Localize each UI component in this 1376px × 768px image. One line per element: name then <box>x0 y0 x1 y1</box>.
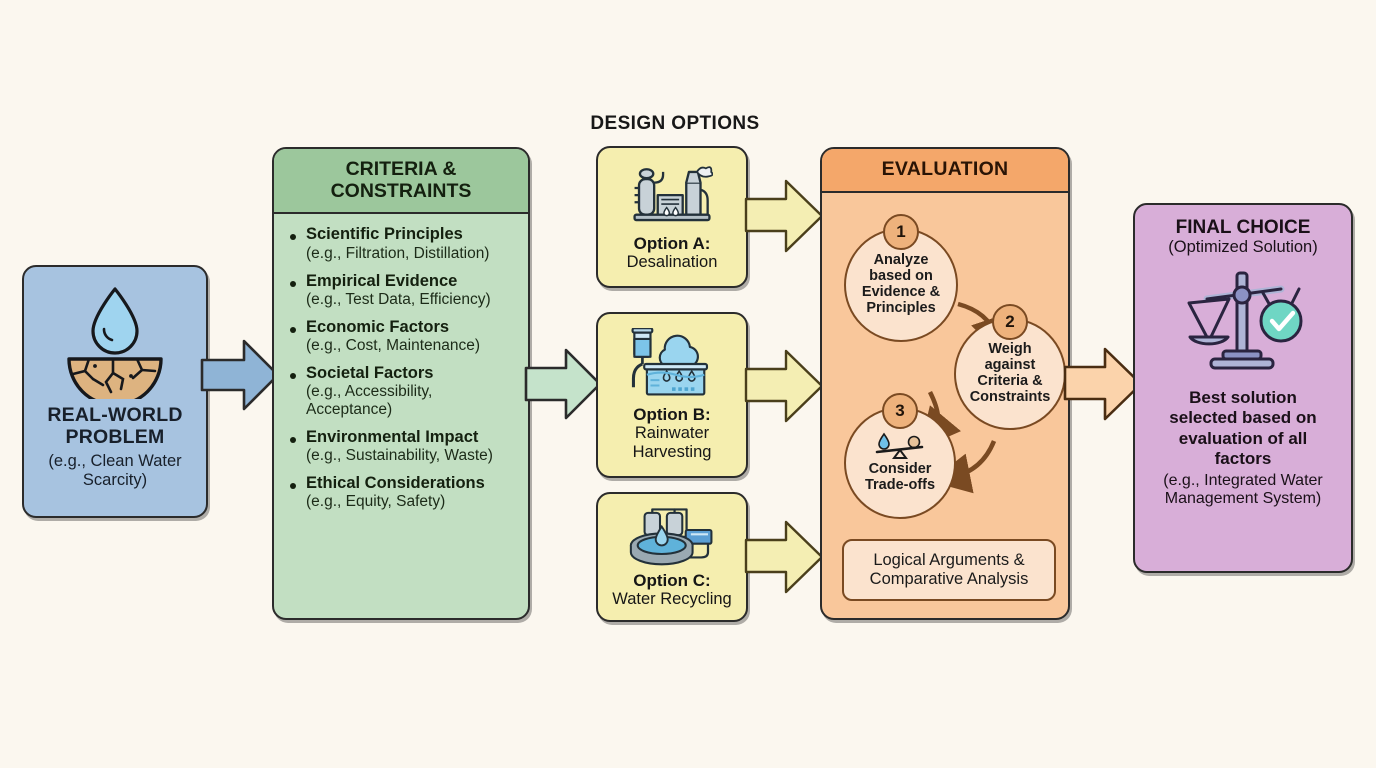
step-3-text: Consider Trade-offs <box>865 462 935 494</box>
option-c-label: Option C: <box>633 571 710 590</box>
criteria-item-example: (e.g., Filtration, Distillation) <box>306 245 518 263</box>
arrow-option-b-to-evaluation <box>744 345 826 427</box>
option-a-card: Option A: Desalination <box>596 146 748 288</box>
criteria-item-bold: Environmental Impact <box>306 428 518 447</box>
evaluation-card: EVALUATION 1 Analyze based on Evidence &… <box>820 147 1070 620</box>
criteria-constraints-card: CRITERIA &CONSTRAINTS Scientific Princip… <box>272 147 530 620</box>
evaluation-step-1: 1 Analyze based on Evidence & Principles <box>844 228 958 342</box>
criteria-item-example: (e.g., Accessibility, Acceptance) <box>306 383 518 419</box>
criteria-item-example: (e.g., Test Data, Efficiency) <box>306 291 518 309</box>
option-c-card: Option C: Water Recycling <box>596 492 748 622</box>
criteria-list: Scientific Principles (e.g., Filtration,… <box>274 214 528 511</box>
problem-title: REAL-WORLDPROBLEM <box>47 405 182 449</box>
diagram-canvas: REAL-WORLDPROBLEM (e.g., Clean WaterScar… <box>0 0 1376 768</box>
arrow-criteria-to-options <box>522 342 604 426</box>
evaluation-step-3: 3 Consider Trade-offs <box>844 407 956 519</box>
step-1-text: Analyze based on Evidence & Principles <box>862 253 940 317</box>
criteria-item-bold: Empirical Evidence <box>306 272 518 291</box>
final-choice-title: FINAL CHOICE <box>1176 217 1311 238</box>
option-b-label: Option B: <box>633 405 710 424</box>
logical-arguments-box: Logical Arguments & Comparative Analysis <box>842 539 1056 601</box>
problem-subtitle: (e.g., Clean WaterScarcity) <box>48 452 181 491</box>
rainwater-harvesting-icon <box>620 328 724 400</box>
option-c-name: Water Recycling <box>612 590 732 609</box>
real-world-problem-card: REAL-WORLDPROBLEM (e.g., Clean WaterScar… <box>22 265 208 518</box>
criteria-item-example: (e.g., Equity, Safety) <box>306 493 518 511</box>
final-choice-example: (e.g., Integrated Water Management Syste… <box>1163 472 1322 508</box>
criteria-header: CRITERIA &CONSTRAINTS <box>274 149 528 214</box>
list-item: Ethical Considerations (e.g., Equity, Sa… <box>290 474 518 511</box>
final-choice-card: FINAL CHOICE (Optimized Solution) Best s… <box>1133 203 1353 573</box>
criteria-item-example: (e.g., Cost, Maintenance) <box>306 337 518 355</box>
evaluation-step-2: 2 Weigh against Criteria & Constraints <box>954 318 1066 430</box>
design-options-heading: DESIGN OPTIONS <box>560 113 790 135</box>
water-recycling-icon <box>624 506 720 566</box>
final-choice-body: Best solution selected based on evaluati… <box>1169 388 1316 470</box>
criteria-item-bold: Economic Factors <box>306 318 518 337</box>
seesaw-tradeoff-icon <box>872 432 928 460</box>
list-item: Environmental Impact (e.g., Sustainabili… <box>290 428 518 465</box>
option-b-card: Option B: RainwaterHarvesting <box>596 312 748 478</box>
desalination-plant-icon <box>631 163 713 229</box>
option-b-name: RainwaterHarvesting <box>633 424 712 461</box>
final-choice-subtitle: (Optimized Solution) <box>1168 238 1317 257</box>
list-item: Societal Factors (e.g., Accessibility, A… <box>290 364 518 419</box>
list-item: Empirical Evidence (e.g., Test Data, Eff… <box>290 272 518 309</box>
balance-scale-check-icon <box>1177 263 1309 381</box>
water-drop-cracked-earth-icon <box>59 281 171 399</box>
step-1-badge: 1 <box>883 214 919 250</box>
list-item: Economic Factors (e.g., Cost, Maintenanc… <box>290 318 518 355</box>
step-3-badge: 3 <box>882 393 918 429</box>
arrow-option-a-to-evaluation <box>744 175 826 257</box>
arrow-option-c-to-evaluation <box>744 516 826 598</box>
criteria-item-bold: Scientific Principles <box>306 225 518 244</box>
criteria-item-bold: Societal Factors <box>306 364 518 383</box>
step-2-text: Weigh against Criteria & Constraints <box>970 342 1051 406</box>
criteria-item-example: (e.g., Sustainability, Waste) <box>306 447 518 465</box>
criteria-item-bold: Ethical Considerations <box>306 474 518 493</box>
list-item: Scientific Principles (e.g., Filtration,… <box>290 225 518 262</box>
option-a-name: Desalination <box>627 253 718 272</box>
step-2-badge: 2 <box>992 304 1028 340</box>
option-a-label: Option A: <box>634 234 711 253</box>
arrow-problem-to-criteria <box>198 332 282 418</box>
